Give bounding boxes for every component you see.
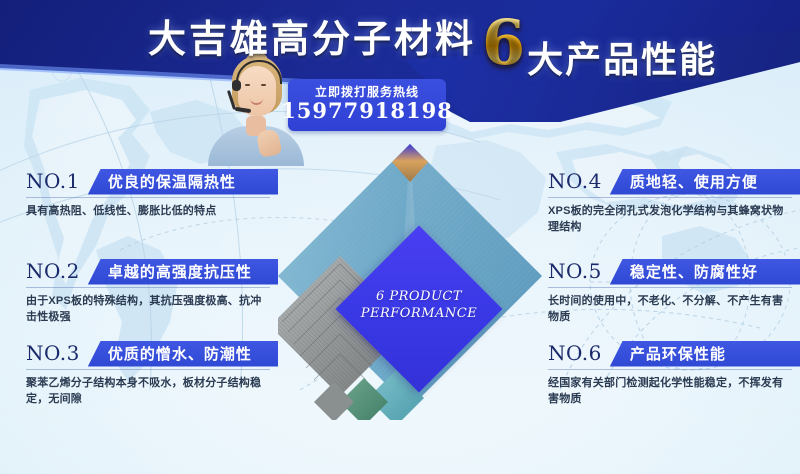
feature-1-divider <box>26 197 270 198</box>
feature-4-bar: 质地轻、使用方便 <box>610 169 800 195</box>
center-badge-text: 6 PRODUCT PERFORMANCE <box>352 288 486 322</box>
title-brand-text: 大吉雄高分子材料 <box>148 8 476 63</box>
feature-item-4[interactable]: NO.4 质地轻、使用方便 XPS板的完全闭孔式发泡化学结构与其蜂窝状物理结构 <box>548 168 800 235</box>
feature-5-description: 长时间的使用中，不老化、不分解、不产生有害物质 <box>548 293 784 325</box>
feature-6-title: 产品环保性能 <box>610 343 726 364</box>
feature-item-3[interactable]: NO.3 优质的憎水、防潮性 聚苯乙烯分子结构本身不吸水，板材分子结构稳定，无间… <box>26 340 278 407</box>
agent-eye-left <box>245 84 250 86</box>
feature-6-divider <box>548 369 792 370</box>
feature-2-number: NO.2 <box>26 258 88 285</box>
feature-item-6[interactable]: NO.6 产品环保性能 经国家有关部门检测起化学性能稳定，不挥发有害物质 <box>548 340 800 407</box>
feature-1-description: 具有高热阻、低线性、膨胀比低的特点 <box>26 203 262 219</box>
feature-6-description: 经国家有关部门检测起化学性能稳定，不挥发有害物质 <box>548 375 784 407</box>
feature-5-divider <box>548 287 792 288</box>
feature-1-header: NO.1 优良的保温隔热性 <box>26 168 278 195</box>
product-performance-banner: 大吉雄高分子材料 6 大产品性能 立即拨打服务热线 15977918198 6 … <box>0 0 800 474</box>
feature-4-header: NO.4 质地轻、使用方便 <box>548 168 800 195</box>
feature-1-title: 优良的保温隔热性 <box>88 171 236 192</box>
feature-2-divider <box>26 287 270 288</box>
feature-3-bar: 优质的憎水、防潮性 <box>88 341 278 367</box>
feature-2-description: 由于XPS板的特殊结构，其抗压强度极高、抗冲击性极强 <box>26 293 262 325</box>
feature-3-number: NO.3 <box>26 340 88 367</box>
headset-mic <box>235 107 251 113</box>
title-gold-six: 6 <box>482 15 525 71</box>
feature-item-1[interactable]: NO.1 优良的保温隔热性 具有高热阻、低线性、膨胀比低的特点 <box>26 168 278 219</box>
center-badge-line1: 6 PRODUCT <box>352 288 486 305</box>
headset-earpiece <box>232 80 241 91</box>
feature-3-divider <box>26 369 270 370</box>
hotline-phone-number[interactable]: 15977918198 <box>281 99 453 123</box>
feature-3-title: 优质的憎水、防潮性 <box>88 343 252 364</box>
feature-1-number: NO.1 <box>26 168 88 195</box>
feature-6-bar: 产品环保性能 <box>610 341 800 367</box>
hotline-label: 立即拨打服务热线 <box>315 85 419 99</box>
feature-3-description: 聚苯乙烯分子结构本身不吸水，板材分子结构稳定，无间隙 <box>26 375 262 407</box>
page-title: 大吉雄高分子材料 6 大产品性能 <box>148 6 717 64</box>
feature-4-title: 质地轻、使用方便 <box>610 171 758 192</box>
feature-6-header: NO.6 产品环保性能 <box>548 340 800 367</box>
feature-2-title: 卓越的高强度抗压性 <box>88 261 252 282</box>
center-badge-line2: PERFORMANCE <box>352 305 486 322</box>
feature-5-bar: 稳定性、防腐性好 <box>610 259 800 285</box>
feature-5-number: NO.5 <box>548 258 610 285</box>
feature-3-header: NO.3 优质的憎水、防潮性 <box>26 340 278 367</box>
feature-5-title: 稳定性、防腐性好 <box>610 261 758 282</box>
feature-item-5[interactable]: NO.5 稳定性、防腐性好 长时间的使用中，不老化、不分解、不产生有害物质 <box>548 258 800 325</box>
feature-item-2[interactable]: NO.2 卓越的高强度抗压性 由于XPS板的特殊结构，其抗压强度极高、抗冲击性极… <box>26 258 278 325</box>
feature-5-header: NO.5 稳定性、防腐性好 <box>548 258 800 285</box>
feature-1-bar: 优良的保温隔热性 <box>88 169 278 195</box>
feature-2-bar: 卓越的高强度抗压性 <box>88 259 278 285</box>
feature-4-divider <box>548 197 792 198</box>
feature-4-number: NO.4 <box>548 168 610 195</box>
feature-2-header: NO.2 卓越的高强度抗压性 <box>26 258 278 285</box>
feature-6-number: NO.6 <box>548 340 610 367</box>
title-suffix-text: 大产品性能 <box>527 31 717 83</box>
feature-4-description: XPS板的完全闭孔式发泡化学结构与其蜂窝状物理结构 <box>548 203 784 235</box>
hotline-box[interactable]: 立即拨打服务热线 15977918198 <box>288 79 446 131</box>
agent-eye-right <box>261 84 266 86</box>
